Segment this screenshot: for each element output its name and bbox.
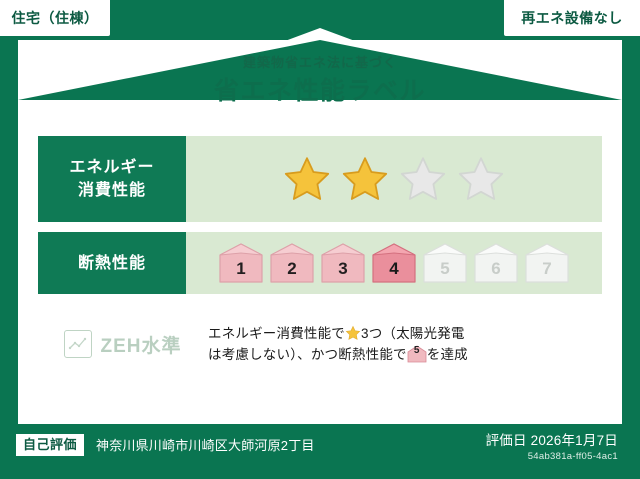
label-footer: 自己評価 神奈川県川崎市川崎区大師河原2丁目 評価日 2026年1月7日 54a… xyxy=(0,424,640,479)
house-level-number: 3 xyxy=(338,260,347,285)
building-type-label: 住宅（住棟） xyxy=(12,8,99,28)
house-icon-level: 5 xyxy=(407,345,427,363)
star-empty-icon xyxy=(398,155,448,203)
energy-performance-row: エネルギー 消費性能 xyxy=(38,136,602,222)
zeh-row: ZEH水準 エネルギー消費性能で 3つ（太陽光発電 は考慮しない）、かつ断熱性能… xyxy=(38,308,602,380)
house-level-1: 1 xyxy=(218,241,264,285)
building-type-tag: 住宅（住棟） xyxy=(0,0,110,36)
energy-performance-label: 住宅（住棟） 再エネ設備なし 建築物省エネ法に基づく 省エネ性能ラベル エネルギ… xyxy=(0,0,640,479)
evaluation-id: 54ab381a-ff05-4ac1 xyxy=(528,451,618,463)
house-level-number: 4 xyxy=(389,260,398,285)
zeh-badge: ZEH水準 xyxy=(38,330,208,358)
renewable-energy-tag: 再エネ設備なし xyxy=(504,0,640,36)
house-level-4: 4 xyxy=(371,241,417,285)
house-level-number: 2 xyxy=(287,260,296,285)
insulation-performance-key: 断熱性能 xyxy=(38,232,186,294)
zeh-chart-icon xyxy=(64,330,92,358)
zeh-desc-part3: は考慮しない）、かつ断熱性能で xyxy=(208,347,407,362)
label-heading: 建築物省エネ法に基づく 省エネ性能ラベル xyxy=(18,54,622,108)
zeh-desc-part4: を達成 xyxy=(427,347,468,362)
renewable-energy-label: 再エネ設備なし xyxy=(521,8,623,28)
house-level-7: 7 xyxy=(524,241,570,285)
house-level-number: 7 xyxy=(542,260,551,285)
house-level-2: 2 xyxy=(269,241,315,285)
insulation-performance-row: 断熱性能 1234567 xyxy=(38,232,602,294)
label-card: 建築物省エネ法に基づく 省エネ性能ラベル エネルギー 消費性能 断熱性能 123… xyxy=(18,40,622,424)
insulation-key-label: 断熱性能 xyxy=(78,252,146,275)
star-filled-icon xyxy=(282,155,332,203)
star-rating xyxy=(186,136,602,222)
star-empty-icon xyxy=(456,155,506,203)
energy-key-line1: エネルギー xyxy=(69,156,154,179)
house-icon-inline: 5 xyxy=(407,345,427,363)
heading-subtitle: 建築物省エネ法に基づく xyxy=(18,54,622,72)
house-level-3: 3 xyxy=(320,241,366,285)
house-level-number: 1 xyxy=(236,260,245,285)
zeh-desc-part1: エネルギー消費性能で xyxy=(208,326,345,341)
star-filled-icon xyxy=(340,155,390,203)
property-address: 神奈川県川崎市川崎区大師河原2丁目 xyxy=(96,437,315,455)
star-icon xyxy=(345,325,361,341)
house-level-number: 6 xyxy=(491,260,500,285)
energy-key-line2: 消費性能 xyxy=(78,179,146,202)
insulation-scale: 1234567 xyxy=(186,232,602,294)
zeh-label: ZEH水準 xyxy=(100,331,181,358)
self-evaluation-badge: 自己評価 xyxy=(16,434,84,456)
house-level-6: 6 xyxy=(473,241,519,285)
zeh-description: エネルギー消費性能で 3つ（太陽光発電 は考慮しない）、かつ断熱性能で 5 を達… xyxy=(208,323,602,365)
energy-performance-key: エネルギー 消費性能 xyxy=(38,136,186,222)
heading-title: 省エネ性能ラベル xyxy=(18,74,622,108)
evaluation-date: 評価日 2026年1月7日 xyxy=(486,432,618,450)
zeh-desc-part2: 3つ（太陽光発電 xyxy=(361,326,465,341)
house-level-5: 5 xyxy=(422,241,468,285)
house-level-list: 1234567 xyxy=(218,241,570,285)
house-level-number: 5 xyxy=(440,260,449,285)
